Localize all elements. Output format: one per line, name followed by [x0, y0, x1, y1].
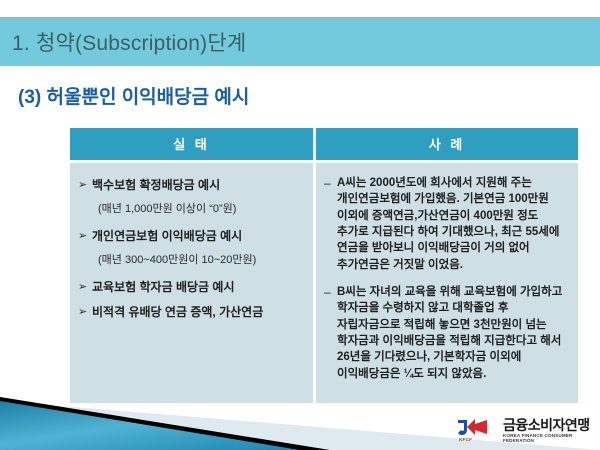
- case-paragraph: – B씨는 자녀의 교육을 위해 교육보험에 가입하고 학자금을 수령하지 않고…: [324, 284, 568, 382]
- slide-subtitle: (3) 허울뿐인 이익배당금 예시: [18, 82, 249, 109]
- arrow-bullet-icon: ➢: [78, 228, 92, 244]
- list-item: ➢ 비적격 유배당 연금 증액, 가산연금: [78, 304, 305, 320]
- arrow-bullet-icon: ➢: [78, 177, 92, 193]
- page-title: 1. 청약(Subscription)단계: [12, 27, 246, 57]
- table-body-row: ➢ 백수보험 확정배당금 예시 (매년 1,000만원 이상이 “0”원) ➢ …: [70, 163, 578, 403]
- table-cell-actual-state: ➢ 백수보험 확정배당금 예시 (매년 1,000만원 이상이 “0”원) ➢ …: [70, 163, 313, 403]
- case-paragraph-text: A씨는 2000년도에 회사에서 지원해 주는 개인연금보험에 가입했음. 기본…: [337, 175, 568, 273]
- list-item-label: 백수보험 확정배당금 예시: [92, 177, 220, 193]
- slide-title-band: 1. 청약(Subscription)단계: [0, 17, 600, 66]
- logo-wordmark: 금융소비자연맹 KOREA FINANCE CONSUMER FEDERATIO…: [503, 418, 595, 443]
- table-cell-case: – A씨는 2000년도에 회사에서 지원해 주는 개인연금보험에 가입했음. …: [316, 163, 578, 403]
- comparison-table: 실 태 사 례 ➢ 백수보험 확정배당금 예시 (매년 1,000만원 이상이 …: [70, 128, 578, 403]
- list-item: ➢ 백수보험 확정배당금 예시: [78, 177, 305, 193]
- case-paragraph-text: B씨는 자녀의 교육을 위해 교육보험에 가입하고 학자금을 수령하지 않고 대…: [337, 284, 568, 382]
- table-header-actual-state: 실 태: [70, 128, 313, 160]
- list-item: ➢ 개인연금보험 이익배당금 예시: [78, 228, 305, 244]
- kfcf-logo-mark-icon: KFCF: [455, 417, 501, 445]
- case-paragraph: – A씨는 2000년도에 회사에서 지원해 주는 개인연금보험에 가입했음. …: [324, 175, 568, 273]
- arrow-bullet-icon: ➢: [78, 279, 92, 295]
- list-item-label: 개인연금보험 이익배당금 예시: [92, 228, 242, 244]
- table-header-case: 사 례: [316, 128, 578, 160]
- dash-bullet-icon: –: [324, 284, 337, 301]
- dash-bullet-icon: –: [324, 175, 337, 192]
- list-item-note: (매년 300~400만원이 10~20만원): [98, 253, 305, 268]
- logo-mark-label: KFCF: [459, 437, 472, 442]
- logo-name-english: KOREA FINANCE CONSUMER FEDERATION: [503, 434, 595, 443]
- table-header-row: 실 태 사 례: [70, 128, 578, 160]
- organization-logo: KFCF 금융소비자연맹 KOREA FINANCE CONSUMER FEDE…: [455, 416, 595, 446]
- list-item-label: 비적격 유배당 연금 증액, 가산연금: [92, 304, 263, 320]
- list-item: ➢ 교육보험 학자금 배당금 예시: [78, 279, 305, 295]
- logo-glyph-icon: [455, 417, 501, 439]
- list-item-label: 교육보험 학자금 배당금 예시: [92, 279, 234, 295]
- logo-name-korean: 금융소비자연맹: [503, 418, 595, 432]
- arrow-bullet-icon: ➢: [78, 304, 92, 320]
- list-item-note: (매년 1,000만원 이상이 “0”원): [98, 202, 305, 217]
